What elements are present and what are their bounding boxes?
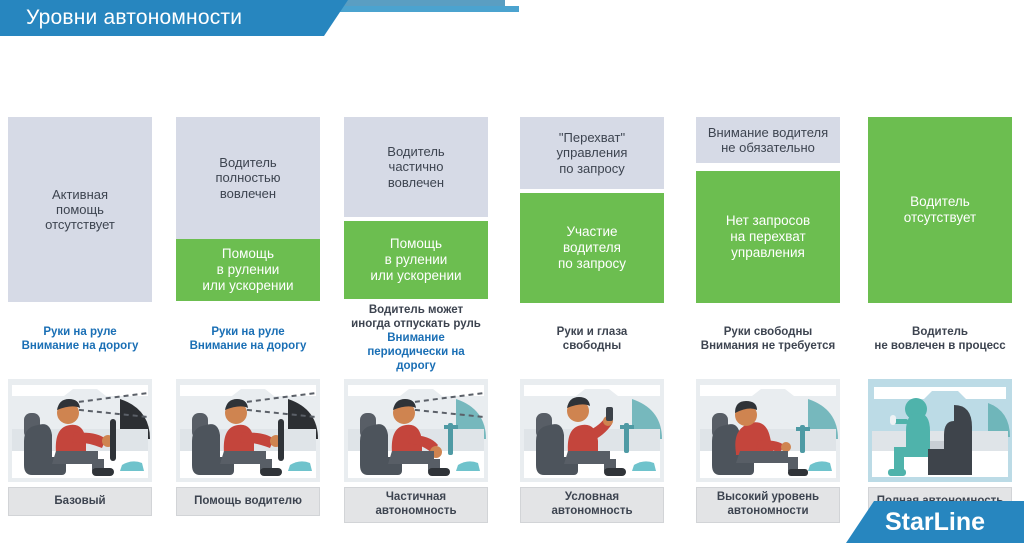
level-white-blue-text-0: Руки на руле Внимание на дорогу <box>22 325 139 353</box>
level-white-dark-text-4: Руки свободны Внимания не требуется <box>701 325 835 353</box>
level-column-1: Уровень 1Водитель полностью вовлеченПомо… <box>168 21 328 529</box>
level-white-box-4: Руки свободны Внимания не требуется <box>696 309 840 369</box>
level-green-box-4: Нет запросов на перехват управления <box>696 171 840 303</box>
level-heading-0: Уровень 0 <box>0 44 160 66</box>
level-heading-2: Уровень 2 <box>336 44 496 66</box>
level-grey-box-1: Водитель полностью вовлечен <box>176 117 320 239</box>
level-column-2: Уровень 2Водитель частично вовлеченПомощ… <box>336 21 496 529</box>
level-grey-text-4: Внимание водителя не обязательно <box>708 125 828 155</box>
driver-hands-on-wheel-illustration <box>176 379 320 482</box>
level-green-text-2: Помощь в рулении или ускорении <box>370 236 461 283</box>
level-grey-box-3: "Перехват" управления по запросу <box>520 117 664 189</box>
passenger-rear-facing-illustration <box>868 379 1012 482</box>
level-grey-text-1: Водитель полностью вовлечен <box>216 155 281 201</box>
level-grey-box-0: Активная помощь отсутствует <box>8 117 152 302</box>
level-grey-text-3: "Перехват" управления по запросу <box>557 130 628 176</box>
level-caption-text-1: Помощь водителю <box>194 495 302 509</box>
level-white-box-3: Руки и глаза свободны <box>520 309 664 369</box>
level-grey-text-0: Активная помощь отсутствует <box>45 187 115 233</box>
level-white-blue-text-1: Руки на руле Внимание на дорогу <box>190 325 307 353</box>
starline-logo: StarLine <box>846 501 1024 543</box>
level-green-text-3: Участие водителя по запросу <box>558 224 626 271</box>
level-green-box-1: Помощь в рулении или ускорении <box>176 239 320 301</box>
level-caption-text-3: Условная автономность <box>551 491 632 519</box>
infographic-root: Уровни автономности Уровень 0Активная по… <box>0 0 1024 543</box>
level-caption-text-0: Базовый <box>54 495 105 509</box>
level-green-text-4: Нет запросов на перехват управления <box>726 213 810 260</box>
level-green-box-2: Помощь в рулении или ускорении <box>344 221 488 299</box>
level-heading-5: Уровень 5 <box>860 44 1020 66</box>
driver-reclining-asleep-illustration <box>696 379 840 482</box>
level-white-box-1: Руки на руле Внимание на дорогу <box>176 309 320 369</box>
level-heading-3: Уровень 3 <box>512 44 672 66</box>
level-grey-box-2: Водитель частично вовлечен <box>344 117 488 217</box>
level-column-5: Уровень 5Водитель отсутствуетВодитель не… <box>860 21 1020 529</box>
level-white-dark-text-3: Руки и глаза свободны <box>557 325 628 353</box>
level-green-text-5: Водитель отсутствует <box>904 194 976 226</box>
level-caption-0: Базовый <box>8 487 152 516</box>
level-heading-4: Уровень 4 <box>688 44 848 66</box>
driver-using-phone-illustration <box>520 379 664 482</box>
level-white-blue-text-2: Внимание периодически на дорогу <box>348 331 484 373</box>
driver-hands-off-wheel-illustration <box>344 379 488 482</box>
page-title: Уровни автономности <box>0 0 348 36</box>
level-heading-1: Уровень 1 <box>168 44 328 66</box>
level-green-text-1: Помощь в рулении или ускорении <box>202 246 293 293</box>
level-column-3: Уровень 3"Перехват" управления по запрос… <box>512 21 672 529</box>
level-column-4: Уровень 4Внимание водителя не обязательн… <box>688 21 848 529</box>
level-caption-3: Условная автономность <box>520 487 664 523</box>
level-column-0: Уровень 0Активная помощь отсутствуетРуки… <box>0 21 160 529</box>
level-green-box-5: Водитель отсутствует <box>868 117 1012 303</box>
level-green-box-3: Участие водителя по запросу <box>520 193 664 303</box>
level-white-box-5: Водитель не вовлечен в процесс <box>868 309 1012 369</box>
driver-hands-on-wheel-illustration <box>8 379 152 482</box>
level-grey-box-4: Внимание водителя не обязательно <box>696 117 840 163</box>
level-grey-text-2: Водитель частично вовлечен <box>387 144 444 190</box>
level-caption-text-2: Частичная автономность <box>375 491 456 519</box>
level-caption-text-4: Высокий уровень автономности <box>717 491 819 519</box>
level-caption-4: Высокий уровень автономности <box>696 487 840 523</box>
level-white-box-0: Руки на руле Внимание на дорогу <box>8 309 152 369</box>
level-white-box-2: Водитель может иногда отпускать рульВним… <box>344 305 488 371</box>
level-caption-1: Помощь водителю <box>176 487 320 516</box>
level-white-dark-text-5: Водитель не вовлечен в процесс <box>874 325 1005 353</box>
level-caption-2: Частичная автономность <box>344 487 488 523</box>
level-white-dark-text-2: Водитель может иногда отпускать руль <box>351 303 481 331</box>
